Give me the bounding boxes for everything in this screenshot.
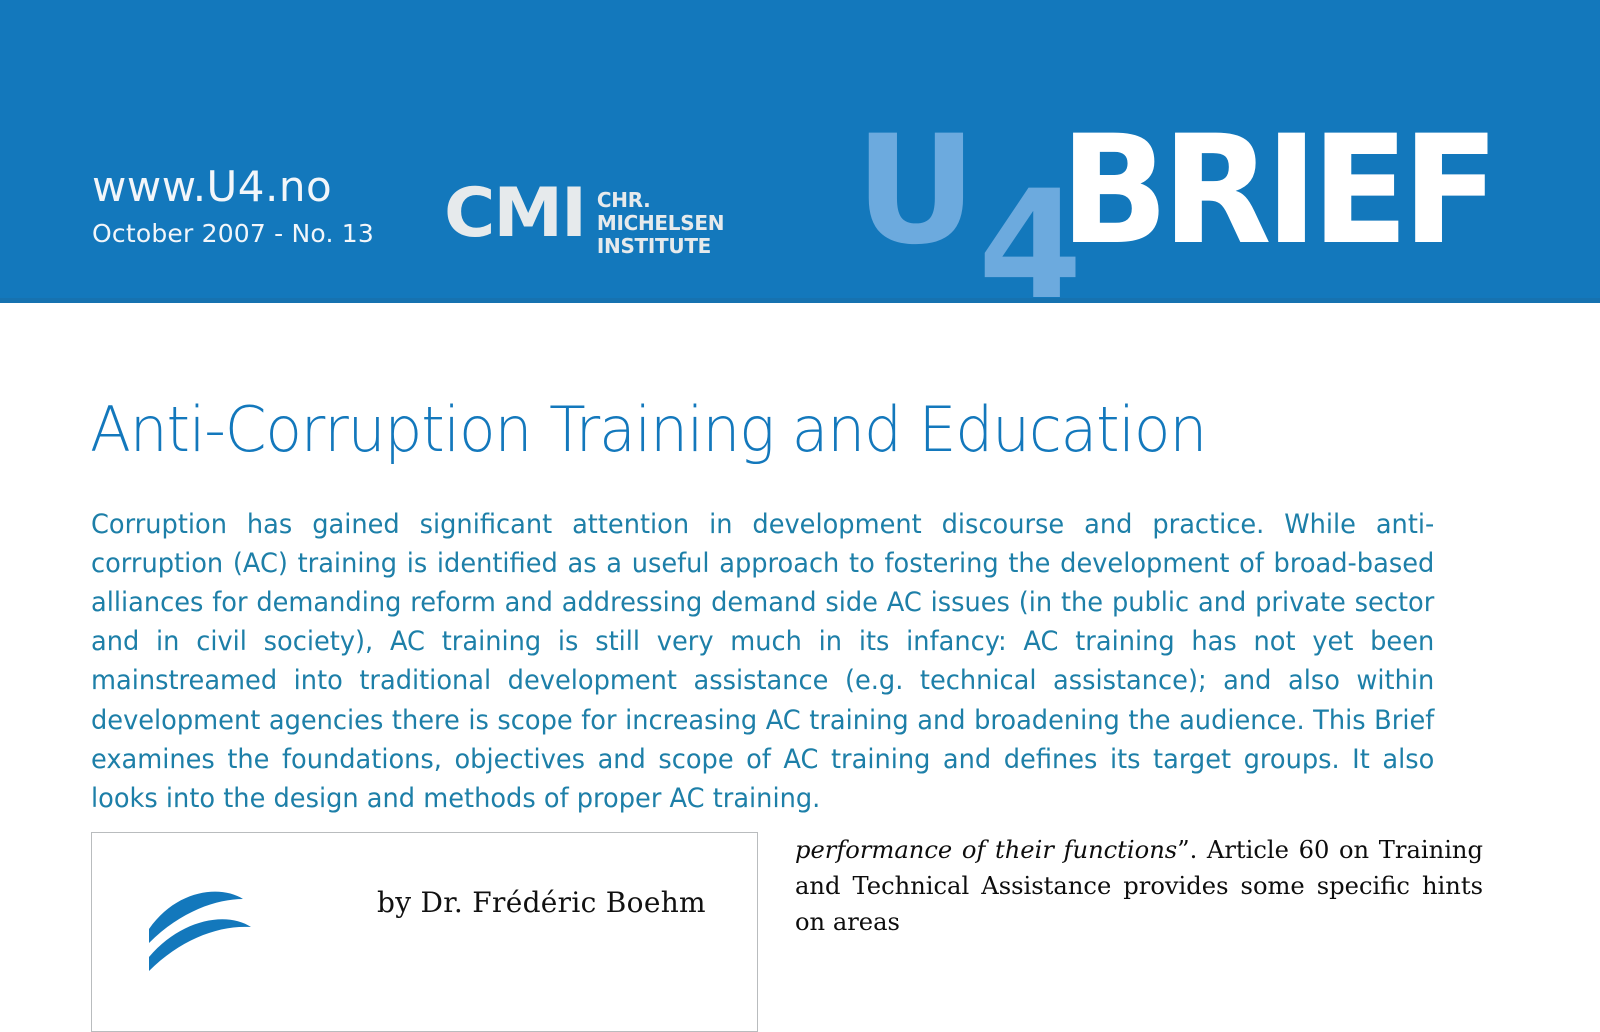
cmi-institute-name: CHR.MICHELSENINSTITUTE [597,189,724,259]
author-byline: by Dr. Frédéric Boehm [377,884,747,922]
issue-date-number: October 2007 - No. 13 [92,219,374,248]
abstract-paragraph: Corruption has gained significant attent… [91,505,1434,819]
u4-brief-wordmark: U 4 BRIEF [855,108,1495,298]
cmi-logo: CMI CHR.MICHELSENINSTITUTE [444,183,724,269]
brand-block: www.U4.no October 2007 - No. 13 [92,166,374,248]
author-info-box: by Dr. Frédéric Boehm [91,832,758,1032]
u4-wave-logo-icon [147,885,277,1005]
body-text-column: performance of their functions”. Article… [795,832,1483,940]
masthead-banner: www.U4.no October 2007 - No. 13 CMI CHR.… [0,0,1600,303]
website-url[interactable]: www.U4.no [92,166,374,208]
wordmark-letter-u: U [855,116,971,266]
cmi-monogram: CMI [444,183,585,246]
wordmark-text-brief: BRIEF [1060,116,1493,266]
body-italic-quote: performance of their functions [795,836,1177,864]
page-title: Anti-Corruption Training and Education [90,399,1441,461]
